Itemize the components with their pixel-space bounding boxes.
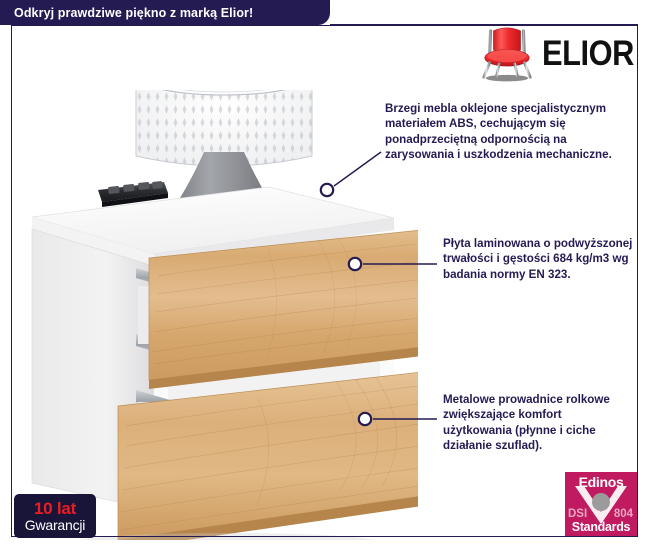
edinos-standards-label: Standards	[565, 520, 637, 534]
guarantee-label: Gwarancji	[25, 517, 85, 533]
edinos-standards-badge: Edinos DSI 804 Standards	[565, 472, 637, 536]
guarantee-years: 10 lat	[34, 500, 76, 517]
header-rule	[330, 24, 638, 26]
callout-leaders	[0, 0, 650, 550]
header-banner: Odkryj prawdziwe piękno z marką Elior!	[0, 0, 330, 25]
edinos-right-code: 804	[614, 508, 633, 520]
promo-banner: Brzegi mebla oklejone specjalistycznym m…	[0, 0, 650, 550]
guarantee-badge: 10 lat Gwarancji	[14, 494, 96, 538]
callout-1-line	[334, 152, 381, 186]
callout-3-marker	[359, 413, 371, 425]
callout-1-marker	[321, 184, 333, 196]
page-title: Odkryj prawdziwe piękno z marką Elior!	[0, 6, 253, 20]
edinos-left-code: DSI	[568, 508, 587, 520]
callout-2-marker	[349, 258, 361, 270]
